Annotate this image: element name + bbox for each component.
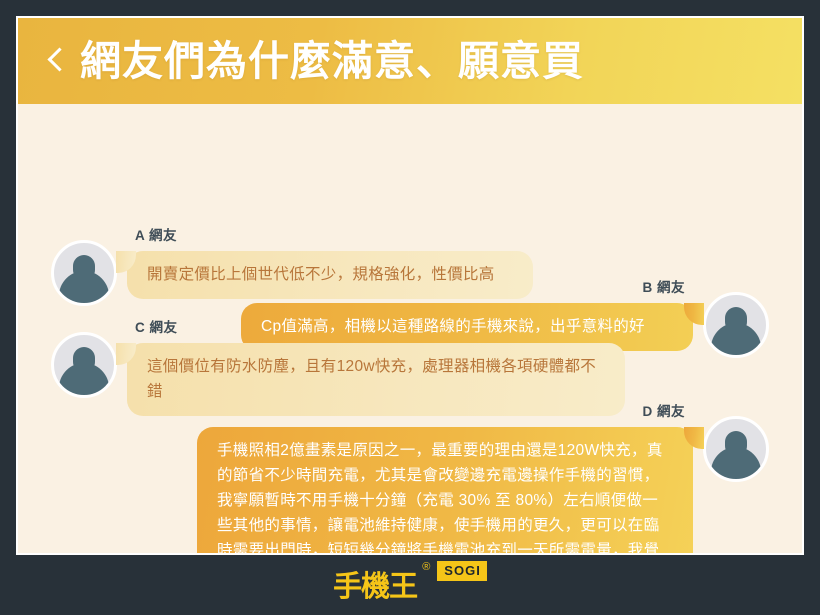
- registered-trademark-icon: ®: [422, 562, 430, 573]
- comment-item-d: D 網友 手機照相2億畫素是原因之一，最重要的理由還是120W快充，真的節省不少…: [197, 400, 769, 553]
- comment-nickname: A 網友: [135, 224, 177, 244]
- comment-nickname: D 網友: [643, 400, 686, 420]
- avatar-body: [59, 271, 109, 306]
- page-title: 網友們為什麼滿意、願意買: [80, 41, 584, 82]
- avatar-body: [711, 323, 761, 358]
- sogi-brand-badge: SOGI: [437, 561, 487, 581]
- comment-bubble: 手機照相2億畫素是原因之一，最重要的理由還是120W快充，真的節省不少時間充電，…: [197, 427, 693, 553]
- screenshot-root: 網友們為什麼滿意、願意買 A 網友 開賣定價比上個世代低不少，規格強化，性價比高: [0, 0, 820, 615]
- content-card: 網友們為什麼滿意、願意買 A 網友 開賣定價比上個世代低不少，規格強化，性價比高: [18, 18, 802, 553]
- comment-nickname: C 網友: [135, 316, 178, 336]
- avatar: [51, 332, 117, 398]
- comment-list: A 網友 開賣定價比上個世代低不少，規格強化，性價比高 B 網友 Cp值滿高，相…: [18, 104, 802, 553]
- chevron-left-icon[interactable]: [44, 44, 66, 78]
- avatar: [703, 416, 769, 482]
- avatar: [703, 292, 769, 358]
- comment-body-d: D 網友 手機照相2億畫素是原因之一，最重要的理由還是120W快充，真的節省不少…: [197, 400, 693, 553]
- avatar-body: [59, 363, 109, 398]
- avatar-body: [711, 447, 761, 482]
- avatar: [51, 240, 117, 306]
- page-header: 網友們為什麼滿意、願意買: [18, 18, 802, 104]
- footer-branding: 手機王 ® SOGI: [0, 558, 820, 615]
- comment-nickname: B 網友: [643, 276, 686, 296]
- sogi-logo-text: 手機王: [333, 572, 417, 601]
